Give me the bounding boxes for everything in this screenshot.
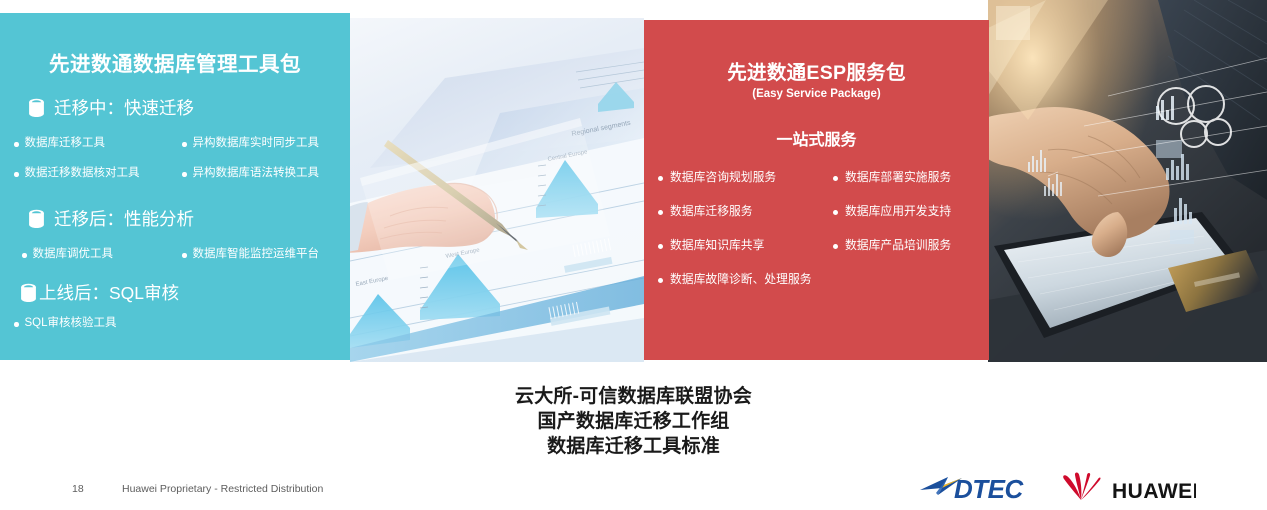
bullet-dot bbox=[182, 253, 187, 258]
bullet-dot bbox=[14, 172, 19, 177]
list-item-label: 数据库迁移服务 bbox=[670, 206, 753, 218]
list-item: 数据库迁移工具 bbox=[14, 138, 182, 168]
list-item-label: 异构数据库实时同步工具 bbox=[193, 138, 320, 150]
list-item: 数据库产品培训服务 bbox=[833, 240, 993, 274]
slide-canvas: Regional segments Central Europe West Eu… bbox=[0, 0, 1267, 510]
list-item: 数据库应用开发支持 bbox=[833, 206, 993, 240]
database-icon bbox=[28, 98, 45, 118]
footer-note: Huawei Proprietary - Restricted Distribu… bbox=[122, 483, 323, 495]
database-icon bbox=[20, 283, 37, 303]
right-panel-title: 先进数通ESP服务包 bbox=[644, 20, 989, 85]
hand-touching-tablet-analytics-photo bbox=[988, 0, 1267, 362]
list-item-label: 数据库知识库共享 bbox=[670, 240, 764, 252]
dtec-wordmark: DTEC bbox=[954, 474, 1025, 504]
section-heading-sql-review: 上线后：SQL审核 bbox=[0, 280, 350, 305]
bullet-dot bbox=[658, 278, 663, 283]
caption-line-3: 数据库迁移工具标准 bbox=[0, 434, 1267, 459]
bullet-dot bbox=[833, 210, 838, 215]
caption-line-1: 云大所-可信数据库联盟协会 bbox=[0, 384, 1267, 409]
list-item: 数据库咨询规划服务 bbox=[658, 172, 833, 206]
section-heading-performance: 迁移后：性能分析 bbox=[0, 206, 350, 231]
list-item-label: 异构数据库语法转换工具 bbox=[193, 168, 320, 180]
list-item: 数据库调优工具 bbox=[22, 249, 182, 277]
list-item-label: 数据库产品培训服务 bbox=[845, 240, 951, 252]
left-panel: 先进数通数据库管理工具包 迁移中：快速迁移 数据库迁移工具 bbox=[0, 13, 350, 360]
caption-block: 云大所-可信数据库联盟协会 国产数据库迁移工作组 数据库迁移工具标准 bbox=[0, 384, 1267, 459]
section-heading-text: 迁移中：快速迁移 bbox=[54, 95, 194, 120]
list-item-label: 数据迁移数据核对工具 bbox=[25, 168, 140, 180]
list-item: 异构数据库实时同步工具 bbox=[182, 138, 364, 168]
bullet-dot bbox=[182, 142, 187, 147]
right-panel-subtitle: (Easy Service Package) bbox=[644, 88, 989, 100]
section-heading-migration: 迁移中：快速迁移 bbox=[0, 95, 350, 120]
bullet-dot bbox=[658, 210, 663, 215]
list-item: 异构数据库语法转换工具 bbox=[182, 168, 364, 198]
section-heading-text: 上线后：SQL审核 bbox=[39, 280, 179, 305]
left-panel-title: 先进数通数据库管理工具包 bbox=[0, 13, 350, 77]
bullet-dot bbox=[658, 176, 663, 181]
bullet-dot bbox=[182, 172, 187, 177]
bullet-dot bbox=[833, 176, 838, 181]
huawei-logo: HUAWEI bbox=[1060, 472, 1196, 504]
list-item-label: 数据库调优工具 bbox=[33, 249, 114, 261]
page-number: 18 bbox=[72, 483, 84, 495]
list-item-label: SQL审核核验工具 bbox=[25, 318, 117, 330]
right-panel-middle-heading: 一站式服务 bbox=[644, 100, 989, 150]
list-item-label: 数据库迁移工具 bbox=[25, 138, 106, 150]
bullet-dot bbox=[14, 322, 19, 327]
list-item-label: 数据库部署实施服务 bbox=[845, 172, 951, 184]
huawei-wordmark: HUAWEI bbox=[1112, 480, 1196, 503]
bullet-dot bbox=[658, 244, 663, 249]
list-item-label: 数据库应用开发支持 bbox=[845, 206, 951, 218]
list-item-label: 数据库咨询规划服务 bbox=[670, 172, 776, 184]
list-item-label: 数据库智能监控运维平台 bbox=[193, 249, 320, 261]
list-item: 数据库迁移服务 bbox=[658, 206, 833, 240]
bullet-dot bbox=[22, 253, 27, 258]
middle-photo: Regional segments Central Europe West Eu… bbox=[350, 18, 644, 362]
list-item: 数据库知识库共享 bbox=[658, 240, 833, 274]
database-icon bbox=[28, 209, 45, 229]
banner-strip: Regional segments Central Europe West Eu… bbox=[0, 0, 1267, 362]
service-list: 数据库咨询规划服务 数据库部署实施服务 数据库迁移服务 数据库应用开发支持 数据… bbox=[644, 150, 989, 308]
caption-line-2: 国产数据库迁移工作组 bbox=[0, 409, 1267, 434]
section-heading-text: 迁移后：性能分析 bbox=[54, 206, 194, 231]
list-item-label: 数据库故障诊断、处理服务 bbox=[670, 274, 812, 286]
list-item: 数据迁移数据核对工具 bbox=[14, 168, 182, 198]
right-photo bbox=[988, 0, 1267, 362]
right-panel: 先进数通ESP服务包 (Easy Service Package) 一站式服务 … bbox=[644, 20, 989, 360]
business-charts-hand-writing-photo: Regional segments Central Europe West Eu… bbox=[350, 18, 644, 362]
list-item: 数据库智能监控运维平台 bbox=[182, 249, 364, 277]
dtec-logo: DTEC bbox=[918, 471, 1042, 505]
huawei-flower-icon bbox=[1063, 472, 1100, 500]
list-item: 数据库部署实施服务 bbox=[833, 172, 993, 206]
bullet-dot bbox=[14, 142, 19, 147]
list-item: 数据库故障诊断、处理服务 bbox=[658, 274, 993, 308]
bullet-dot bbox=[833, 244, 838, 249]
list-item: SQL审核核验工具 bbox=[14, 318, 350, 330]
